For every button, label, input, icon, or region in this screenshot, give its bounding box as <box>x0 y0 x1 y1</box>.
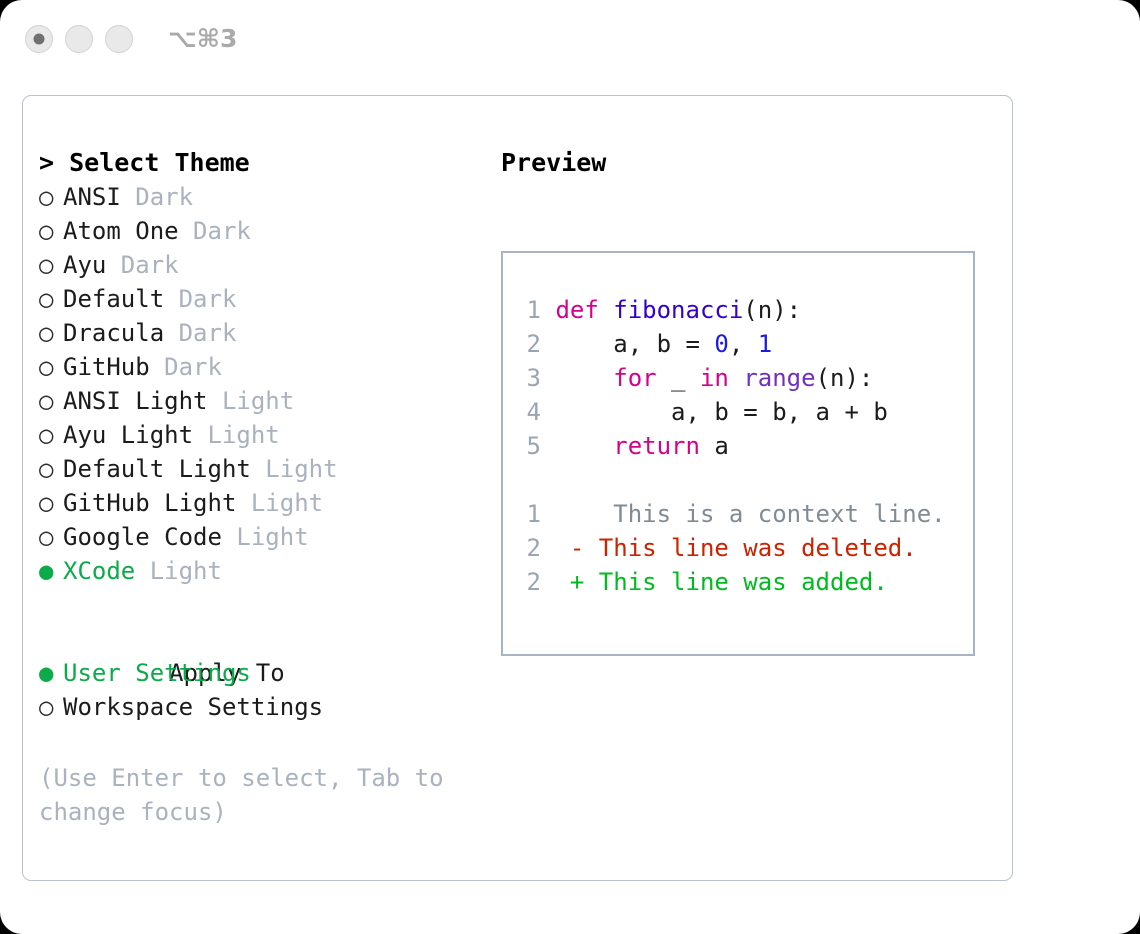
theme-list-item[interactable]: ○ANSI Dark <box>39 180 509 214</box>
code-token-plain: (n): <box>743 296 801 324</box>
radio-unselected-icon[interactable]: ○ <box>39 248 63 282</box>
theme-variant-label: Dark <box>135 183 193 211</box>
gutter-space <box>541 432 555 460</box>
code-token-plain: , <box>729 330 758 358</box>
code-token-plain <box>729 364 743 392</box>
code-token-plain: (n): <box>816 364 874 392</box>
keyboard-shortcut-label: ⌥⌘3 <box>168 24 237 53</box>
code-token-plain: a, b = <box>555 330 714 358</box>
code-line: 3 for _ in range(n): <box>515 361 967 395</box>
preview-title: Preview <box>501 146 991 180</box>
apply-to-option[interactable]: ○Workspace Settings <box>39 690 509 724</box>
theme-variant-label: Light <box>222 387 294 415</box>
apply-to-option-label: User Settings <box>63 659 251 687</box>
theme-variant-label: Light <box>236 523 308 551</box>
gutter-space <box>541 330 555 358</box>
theme-name: ANSI <box>63 183 135 211</box>
theme-list-item[interactable]: ○Default Dark <box>39 282 509 316</box>
traffic-light-active-indicator <box>34 34 45 45</box>
code-line: 4 a, b = b, a + b <box>515 395 967 429</box>
diff-marker: - <box>570 534 584 562</box>
code-token-keyword: def <box>555 296 613 324</box>
radio-unselected-icon[interactable]: ○ <box>39 452 63 486</box>
code-preview-area: 1 def fibonacci(n):2 a, b = 0, 13 for _ … <box>515 293 967 599</box>
title-bar: ⌥⌘3 <box>0 0 1140 78</box>
traffic-light-close[interactable] <box>25 25 53 53</box>
keyboard-hint: (Use Enter to select, Tab to change focu… <box>39 761 459 829</box>
line-number: 4 <box>515 395 541 429</box>
code-token-builtin: range <box>743 364 815 392</box>
theme-variant-label: Light <box>150 557 222 585</box>
radio-unselected-icon[interactable]: ○ <box>39 282 63 316</box>
diff-line: 2 + This line was added. <box>515 565 967 599</box>
theme-name: XCode <box>63 557 150 585</box>
radio-unselected-icon[interactable]: ○ <box>39 418 63 452</box>
theme-list-item[interactable]: ○Ayu Dark <box>39 248 509 282</box>
code-line: 1 def fibonacci(n): <box>515 293 967 327</box>
gutter-space <box>541 364 555 392</box>
radio-selected-icon[interactable]: ● <box>39 554 63 588</box>
line-number: 3 <box>515 361 541 395</box>
diff-line: 1 This is a context line. <box>515 497 967 531</box>
theme-variant-label: Dark <box>193 217 251 245</box>
theme-list-item[interactable]: ○Atom One Dark <box>39 214 509 248</box>
theme-variant-label: Dark <box>179 319 237 347</box>
theme-list-item[interactable]: ●XCode Light <box>39 554 509 588</box>
line-number: 2 <box>515 531 541 565</box>
theme-name: Atom One <box>63 217 193 245</box>
theme-selector-panel: > Select Theme ○ANSI Dark○Atom One Dark○… <box>39 146 509 724</box>
diff-text: This line was deleted. <box>584 534 916 562</box>
gutter-space <box>541 568 570 596</box>
diff-sample: 1 This is a context line.2 - This line w… <box>515 497 967 599</box>
theme-variant-label: Light <box>265 455 337 483</box>
theme-name: Ayu <box>63 251 121 279</box>
theme-list-item[interactable]: ○Dracula Dark <box>39 316 509 350</box>
diff-line: 2 - This line was deleted. <box>515 531 967 565</box>
theme-name: GitHub <box>63 353 164 381</box>
radio-unselected-icon[interactable]: ○ <box>39 486 63 520</box>
theme-list: ○ANSI Dark○Atom One Dark○Ayu Dark○Defaul… <box>39 180 509 588</box>
gutter-space <box>541 296 555 324</box>
code-token-number: 0 <box>714 330 728 358</box>
gutter-space <box>541 500 570 528</box>
theme-list-item[interactable]: ○GitHub Light Light <box>39 486 509 520</box>
gutter-space <box>541 398 555 426</box>
radio-unselected-icon[interactable]: ○ <box>39 214 63 248</box>
radio-unselected-icon[interactable]: ○ <box>39 690 63 724</box>
theme-variant-label: Dark <box>121 251 179 279</box>
theme-variant-label: Light <box>208 421 280 449</box>
radio-selected-icon[interactable]: ● <box>39 656 63 690</box>
line-number: 5 <box>515 429 541 463</box>
code-token-plain: _ <box>657 364 700 392</box>
diff-text: This line was added. <box>584 568 887 596</box>
line-number: 1 <box>515 497 541 531</box>
code-line: 2 a, b = 0, 1 <box>515 327 967 361</box>
code-token-keyword: return <box>613 432 700 460</box>
theme-list-item[interactable]: ○Ayu Light Light <box>39 418 509 452</box>
code-token-plain <box>555 432 613 460</box>
radio-unselected-icon[interactable]: ○ <box>39 316 63 350</box>
theme-name: Default Light <box>63 455 265 483</box>
theme-name: Default <box>63 285 179 313</box>
theme-name: Google Code <box>63 523 236 551</box>
radio-unselected-icon[interactable]: ○ <box>39 384 63 418</box>
line-number: 1 <box>515 293 541 327</box>
code-token-number: 1 <box>758 330 772 358</box>
line-number: 2 <box>515 327 541 361</box>
preview-box: 1 def fibonacci(n):2 a, b = 0, 13 for _ … <box>501 251 975 656</box>
list-spacer <box>39 588 509 622</box>
radio-unselected-icon[interactable]: ○ <box>39 350 63 384</box>
theme-list-item[interactable]: ○Google Code Light <box>39 520 509 554</box>
theme-variant-label: Dark <box>164 353 222 381</box>
traffic-light-minimize[interactable] <box>65 25 93 53</box>
preview-panel: Preview 1 def fibonacci(n):2 a, b = 0, 1… <box>501 146 991 180</box>
theme-list-item[interactable]: ○ANSI Light Light <box>39 384 509 418</box>
code-token-plain: a, b = b, a + b <box>555 398 887 426</box>
diff-marker <box>570 500 584 528</box>
code-diff-spacer <box>515 463 967 497</box>
gutter-space <box>541 534 570 562</box>
code-token-keyword: for <box>613 364 656 392</box>
theme-list-item[interactable]: ○Default Light Light <box>39 452 509 486</box>
theme-name: ANSI Light <box>63 387 222 415</box>
theme-name: Ayu Light <box>63 421 208 449</box>
theme-variant-label: Dark <box>179 285 237 313</box>
radio-unselected-icon[interactable]: ○ <box>39 520 63 554</box>
main-window: > Select Theme ○ANSI Dark○Atom One Dark○… <box>22 95 1013 881</box>
theme-name: Dracula <box>63 319 179 347</box>
theme-variant-label: Light <box>251 489 323 517</box>
code-line: 5 return a <box>515 429 967 463</box>
theme-list-item[interactable]: ○GitHub Dark <box>39 350 509 384</box>
theme-name: GitHub Light <box>63 489 251 517</box>
diff-text: This is a context line. <box>584 500 945 528</box>
apply-to-heading: Apply To <box>39 622 509 656</box>
traffic-light-maximize[interactable] <box>105 25 133 53</box>
apply-to-option-label: Workspace Settings <box>63 693 323 721</box>
radio-unselected-icon[interactable]: ○ <box>39 180 63 214</box>
code-token-keyword: in <box>700 364 729 392</box>
line-number: 2 <box>515 565 541 599</box>
code-sample: 1 def fibonacci(n):2 a, b = 0, 13 for _ … <box>515 293 967 463</box>
diff-marker: + <box>570 568 584 596</box>
code-token-plain: a <box>700 432 729 460</box>
code-token-plain <box>555 364 613 392</box>
code-token-function: fibonacci <box>613 296 743 324</box>
panel-title-select-theme: > Select Theme <box>39 146 509 180</box>
app-page: ⌥⌘3 > Select Theme ○ANSI Dark○Atom One D… <box>0 0 1140 934</box>
